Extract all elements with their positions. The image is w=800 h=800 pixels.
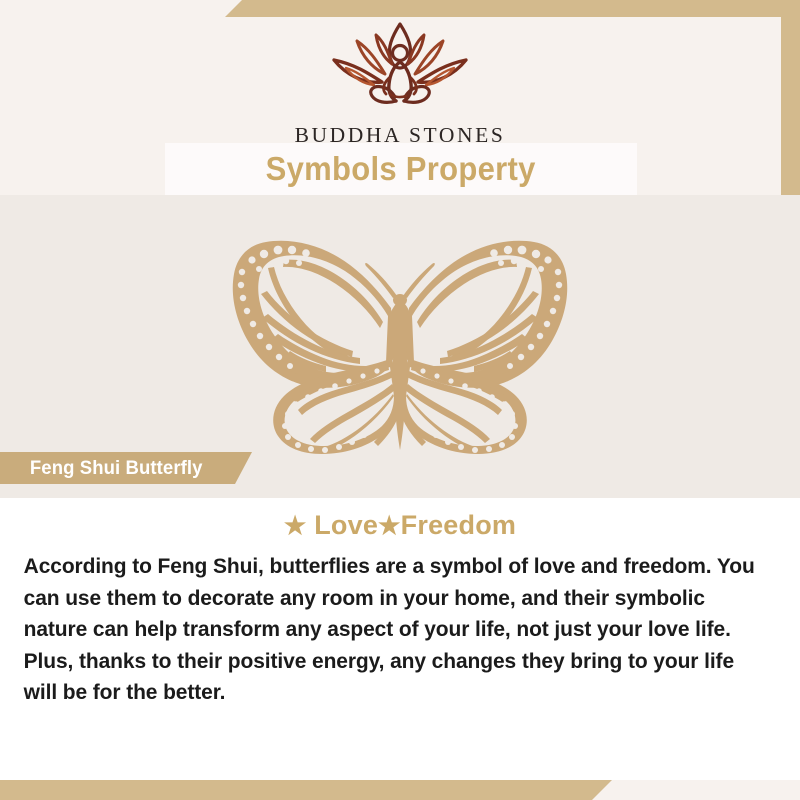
star-icon-left: ★: [284, 512, 307, 540]
promo-graphic: BUDDHA STONES Symbols Property: [0, 0, 800, 800]
tag-label: Feng Shui Butterfly: [5, 457, 202, 480]
frame-bar-top: [225, 0, 800, 17]
subheading-word-two: Freedom: [401, 510, 516, 540]
page-title: Symbols Property: [266, 150, 536, 188]
body-paragraph: According to Feng Shui, butterflies are …: [0, 551, 788, 709]
subheading-word-one: Love: [314, 510, 378, 540]
butterfly-icon: [228, 238, 572, 456]
description-panel: ★ Love★Freedom According to Feng Shui, b…: [0, 498, 800, 780]
frame-bar-bottom: [0, 780, 612, 800]
title-banner: Symbols Property: [165, 143, 637, 195]
brand-logo: BUDDHA STONES: [0, 18, 800, 148]
star-icon-mid: ★: [378, 512, 401, 540]
subheading: ★ Love★Freedom: [0, 510, 800, 541]
lotus-meditation-figure-icon: [0, 18, 800, 121]
status-badge: Feng Shui Butterfly: [0, 452, 252, 484]
